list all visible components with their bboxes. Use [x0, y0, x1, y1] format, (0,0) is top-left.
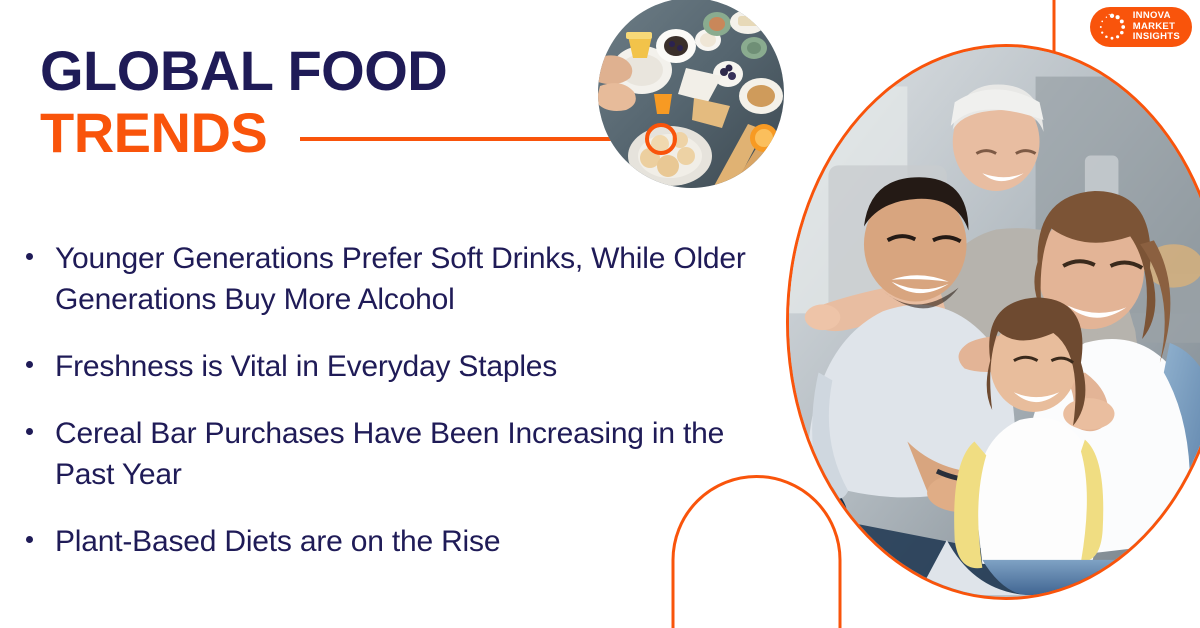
headline-block: GLOBAL FOOD TRENDS — [40, 40, 447, 164]
dotted-circle-icon — [1098, 13, 1126, 41]
breakfast-table-photo — [598, 0, 784, 188]
list-item-label: Cereal Bar Purchases Have Been Increasin… — [55, 413, 755, 495]
headline-line-1: GLOBAL FOOD — [40, 40, 447, 102]
bullet-dot-icon — [26, 361, 33, 368]
list-item-label: Freshness is Vital in Everyday Staples — [55, 346, 557, 387]
orange-highlight-ring-icon — [645, 123, 677, 155]
logo-wordmark: INNOVA MARKET INSIGHTS — [1133, 11, 1180, 43]
list-item-label: Younger Generations Prefer Soft Drinks, … — [55, 238, 755, 320]
breakfast-table-illustration — [598, 0, 784, 188]
list-item-label: Plant-Based Diets are on the Rise — [55, 521, 500, 562]
bullet-dot-icon — [26, 428, 33, 435]
bullet-dot-icon — [26, 536, 33, 543]
innova-market-insights-logo[interactable]: INNOVA MARKET INSIGHTS — [1090, 7, 1192, 47]
headline-line-2: TRENDS — [40, 102, 447, 164]
list-item: Freshness is Vital in Everyday Staples — [18, 346, 778, 387]
list-item: Younger Generations Prefer Soft Drinks, … — [18, 238, 778, 320]
family-portrait-photo — [786, 44, 1200, 600]
family-portrait-illustration — [789, 47, 1200, 595]
key-trends-list: Younger Generations Prefer Soft Drinks, … — [18, 238, 778, 588]
list-item: Cereal Bar Purchases Have Been Increasin… — [18, 413, 778, 495]
bullet-dot-icon — [26, 253, 33, 260]
poster-canvas: GLOBAL FOOD TRENDS Younger Generations P… — [0, 0, 1200, 628]
list-item: Plant-Based Diets are on the Rise — [18, 521, 778, 562]
logo-line-3: INSIGHTS — [1133, 32, 1180, 43]
